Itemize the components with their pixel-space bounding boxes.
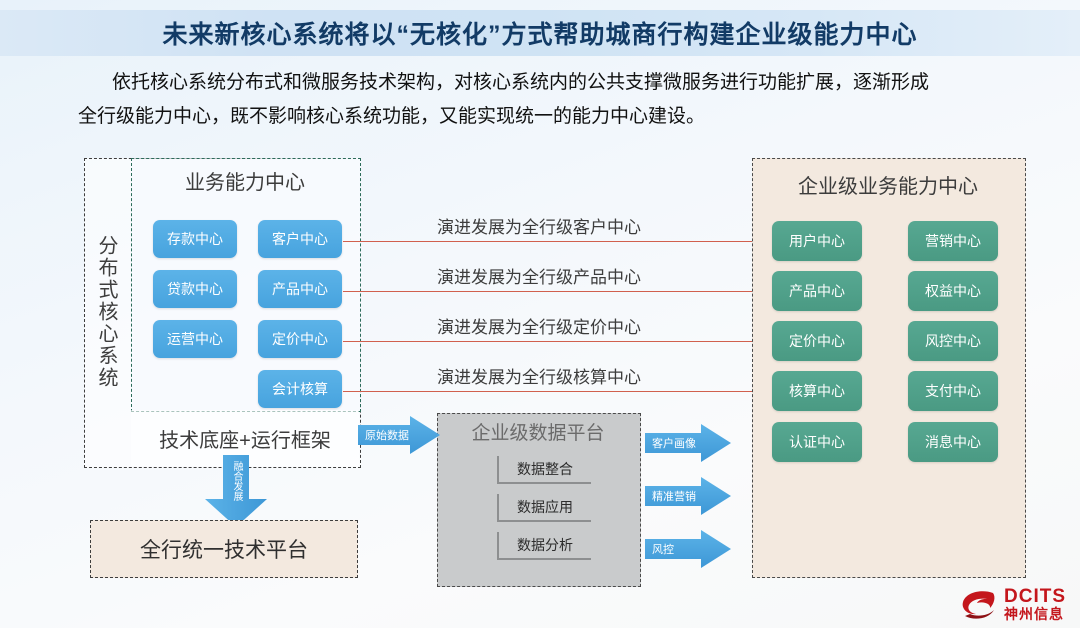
subtitle-line-1: 依托核心系统分布式和微服务技术架构，对核心系统内的公共支撑微服务进行功能扩展，逐…	[78, 66, 1018, 100]
data-platform-item-analysis[interactable]: 数据分析	[497, 532, 591, 560]
green-box-auth[interactable]: 认证中心	[772, 422, 862, 462]
data-platform-item-application[interactable]: 数据应用	[497, 494, 591, 522]
subtitle-line-2: 全行级能力中心，既不影响核心系统功能，又能实现统一的能力中心建设。	[78, 100, 1018, 134]
evolution-label-pricing: 演进发展为全行级定价中心	[437, 313, 641, 338]
evolution-arrow-line-4	[343, 391, 760, 392]
green-box-rights[interactable]: 权益中心	[908, 271, 998, 311]
page-title: 未来新核心系统将以“无核化”方式帮助城商行构建企业级能力中心	[162, 15, 917, 51]
distributed-core-label: 分布式核心系统	[96, 235, 116, 389]
logo-cn: 神州信息	[1004, 607, 1066, 622]
green-box-product[interactable]: 产品中心	[772, 271, 862, 311]
green-box-accounting[interactable]: 核算中心	[772, 371, 862, 411]
business-capability-title: 业务能力中心	[131, 166, 359, 195]
unified-tech-platform: 全行统一技术平台	[90, 520, 358, 578]
green-box-risk[interactable]: 风控中心	[908, 321, 998, 361]
risk-control-arrow-label: 风控	[645, 530, 731, 568]
green-box-payment[interactable]: 支付中心	[908, 371, 998, 411]
slide-root: 未来新核心系统将以“无核化”方式帮助城商行构建企业级能力中心 依托核心系统分布式…	[0, 0, 1080, 628]
enterprise-capability-title: 企业级业务能力中心	[752, 170, 1024, 199]
blue-box-loan[interactable]: 贷款中心	[153, 270, 237, 308]
logo-en: DCITS	[1004, 587, 1066, 607]
company-logo: DCITS 神州信息	[960, 587, 1066, 622]
blue-box-product[interactable]: 产品中心	[258, 270, 342, 308]
evolution-label-product: 演进发展为全行级产品中心	[437, 263, 641, 288]
green-box-user[interactable]: 用户中心	[772, 221, 862, 261]
data-platform-title: 企业级数据平台	[437, 418, 639, 445]
subtitle-block: 依托核心系统分布式和微服务技术架构，对核心系统内的公共支撑微服务进行功能扩展，逐…	[78, 66, 1018, 134]
raw-data-arrow-label: 原始数据	[358, 416, 440, 454]
dcits-swirl-icon	[960, 588, 998, 622]
evolution-label-customer: 演进发展为全行级客户中心	[437, 213, 641, 238]
logo-text: DCITS 神州信息	[1004, 587, 1066, 622]
green-box-message[interactable]: 消息中心	[908, 422, 998, 462]
evolution-arrow-line-3	[343, 341, 760, 342]
evolution-arrow-line-2	[343, 291, 760, 292]
title-bar: 未来新核心系统将以“无核化”方式帮助城商行构建企业级能力中心	[0, 10, 1080, 56]
blue-box-pricing[interactable]: 定价中心	[258, 320, 342, 358]
evolution-label-accounting: 演进发展为全行级核算中心	[437, 363, 641, 388]
green-box-marketing[interactable]: 营销中心	[908, 221, 998, 261]
precision-marketing-arrow-label: 精准营销	[645, 477, 731, 515]
blue-box-accounting[interactable]: 会计核算	[258, 370, 342, 408]
precision-marketing-arrow: 精准营销	[645, 477, 731, 515]
blue-box-operation[interactable]: 运营中心	[153, 320, 237, 358]
risk-control-arrow: 风控	[645, 530, 731, 568]
customer-profile-arrow: 客户画像	[645, 424, 731, 462]
green-box-pricing[interactable]: 定价中心	[772, 321, 862, 361]
customer-profile-arrow-label: 客户画像	[645, 424, 731, 462]
raw-data-arrow: 原始数据	[358, 416, 440, 454]
integration-down-arrow-label: 融合发展	[231, 461, 241, 501]
blue-box-customer[interactable]: 客户中心	[258, 220, 342, 258]
integration-down-arrow: 融合发展	[205, 455, 267, 527]
blue-box-deposit[interactable]: 存款中心	[153, 220, 237, 258]
data-platform-item-integration[interactable]: 数据整合	[497, 456, 591, 484]
evolution-arrow-line-1	[343, 241, 760, 242]
distributed-core-label-wrap: 分布式核心系统	[84, 158, 128, 466]
